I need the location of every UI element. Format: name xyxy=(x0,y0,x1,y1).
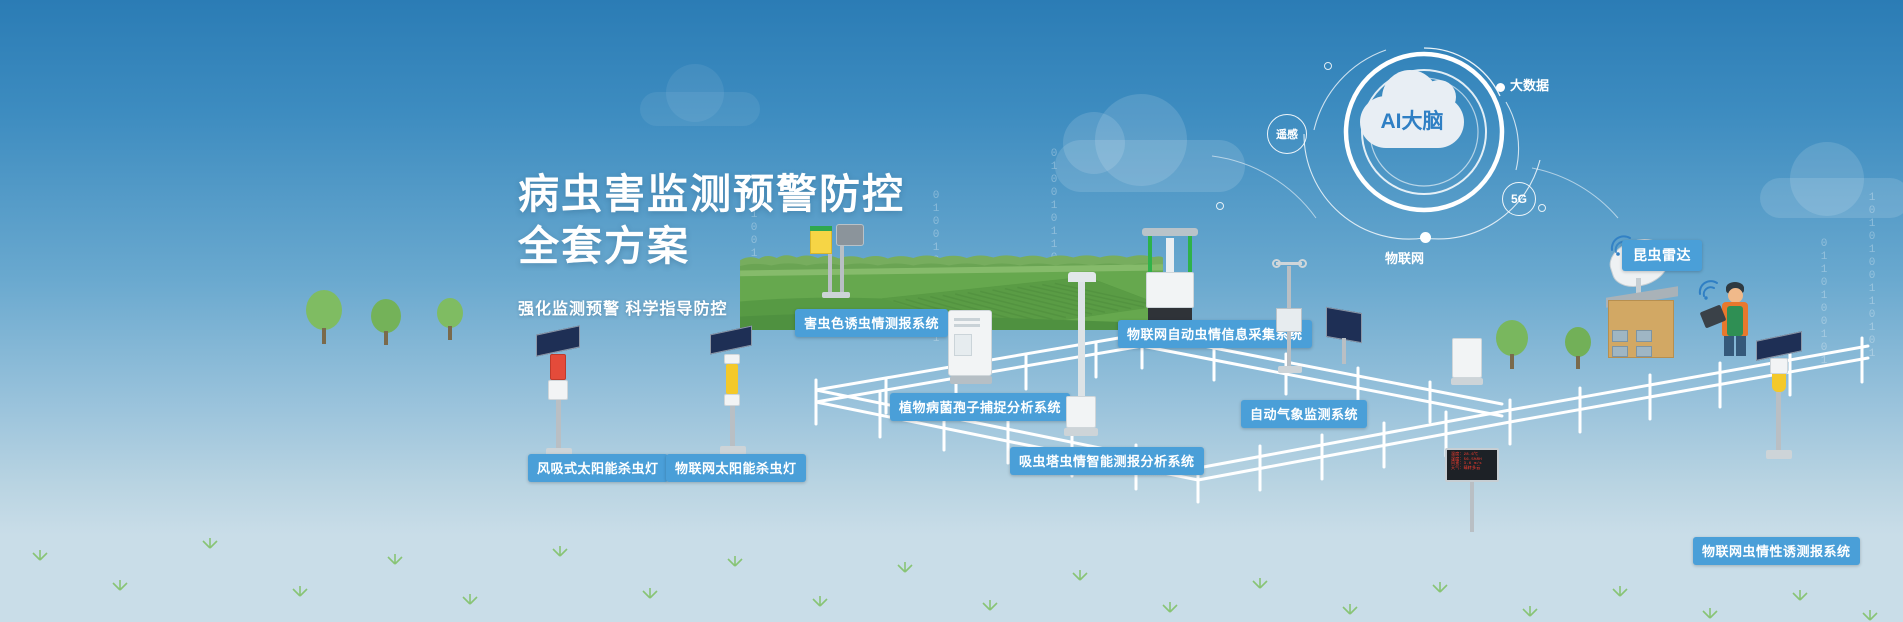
side-cabinet-body xyxy=(1452,338,1482,378)
farmer-leg xyxy=(1724,336,1734,356)
device-spore-capture[interactable] xyxy=(948,310,1008,392)
hub-node-label: 5G xyxy=(1511,192,1527,206)
device-pest-color-lure[interactable] xyxy=(806,224,886,298)
cloud-icon xyxy=(640,92,760,126)
lamp-fan xyxy=(548,380,568,400)
label-pheromone-lure[interactable]: 物联网虫情性诱测报系统 xyxy=(1693,537,1860,565)
lamp-pole xyxy=(730,406,735,450)
lamp-tube xyxy=(726,364,738,394)
orbit-endpoint-dot xyxy=(1216,202,1224,210)
anemometer-cup xyxy=(1298,259,1307,268)
lamp-pole xyxy=(556,400,561,452)
lure-base xyxy=(1766,450,1792,459)
label-iot-solar-lamp[interactable]: 物联网太阳能杀虫灯 xyxy=(666,454,806,482)
collector-roof xyxy=(1142,228,1198,236)
cabinet-vent xyxy=(954,324,980,327)
headline-line-1: 病虫害监测预警防控 xyxy=(518,171,905,217)
sensor-shield xyxy=(1276,308,1302,332)
lamp-collector xyxy=(724,394,740,406)
lamp-housing xyxy=(550,354,566,380)
side-cabinet-base xyxy=(1451,378,1483,385)
lure-funnel xyxy=(1772,374,1786,392)
collector-lamp xyxy=(1166,238,1174,272)
lure-housing xyxy=(1770,358,1788,374)
led-line: 天气：晴转多云 xyxy=(1451,467,1493,472)
label-spore-capture[interactable]: 植物病菌孢子捕捉分析系统 xyxy=(890,393,1070,421)
ai-brain-hub: AI大脑 遥感 5G 大数据 物联网 xyxy=(1274,42,1574,252)
led-weather-board[interactable]: 温度：28.6℃ 湿度：56.5%RH 风速：3.6 m/s 天气：晴转多云 xyxy=(1445,448,1499,482)
orbit-endpoint-dot xyxy=(1324,62,1332,70)
hub-node-big-data-label: 大数据 xyxy=(1510,75,1549,94)
station-solar-pole xyxy=(1342,338,1346,364)
device-iot-solar-lamp[interactable] xyxy=(706,330,766,456)
trap-header xyxy=(810,226,832,231)
sticky-trap-card xyxy=(810,228,832,254)
label-insect-radar[interactable]: 昆虫雷达 xyxy=(1622,240,1702,271)
device-base xyxy=(822,292,850,298)
orbit-endpoint-dot xyxy=(1538,204,1546,212)
farmer-head xyxy=(1728,288,1743,303)
cabinet-window xyxy=(954,334,972,356)
hero-banner: 010010101101 0100101101 01001011010 1010… xyxy=(0,0,1903,622)
collector-bin xyxy=(1148,308,1192,320)
tree-cluster xyxy=(290,286,630,356)
cabinet-base xyxy=(950,376,992,384)
cloud-icon xyxy=(1760,178,1903,218)
label-suction-tower[interactable]: 吸虫塔虫情智能测报分析系统 xyxy=(1010,447,1204,475)
device-weather-station[interactable] xyxy=(1258,262,1322,378)
label-pest-color-lure[interactable]: 害虫色诱虫情测报系统 xyxy=(795,309,948,337)
hub-node-remote-sensing[interactable]: 遥感 xyxy=(1267,114,1307,154)
tower-cabinet xyxy=(1066,396,1096,428)
farmer-figure xyxy=(1700,280,1764,358)
hub-node-dot xyxy=(1420,232,1431,243)
lure-pole xyxy=(1776,392,1781,452)
solar-panel-icon xyxy=(710,326,752,355)
collector-body xyxy=(1146,272,1194,308)
camera-unit xyxy=(836,224,864,246)
label-wind-suction-solar-lamp[interactable]: 风吸式太阳能杀虫灯 xyxy=(528,454,668,482)
tower-cap xyxy=(1068,272,1096,282)
label-weather-station[interactable]: 自动气象监测系统 xyxy=(1241,400,1367,428)
led-board-pole xyxy=(1470,482,1474,532)
tree-cluster xyxy=(1482,312,1642,382)
cloud-icon xyxy=(1055,140,1245,192)
farmer-leg xyxy=(1736,336,1746,356)
device-suction-tower[interactable] xyxy=(1062,272,1102,444)
hub-node-5g[interactable]: 5G xyxy=(1502,182,1536,216)
support-pole xyxy=(840,246,844,296)
station-base xyxy=(1278,366,1302,373)
wifi-icon xyxy=(1696,278,1724,300)
ai-brain-label: AI大脑 xyxy=(1360,100,1464,144)
support-pole xyxy=(828,254,832,296)
hub-node-label: 遥感 xyxy=(1276,126,1298,142)
cabinet-vent xyxy=(954,318,980,321)
tower-shaft xyxy=(1078,282,1085,396)
hub-node-dot xyxy=(1496,83,1505,92)
tower-base xyxy=(1064,428,1098,436)
lamp-top xyxy=(724,354,740,364)
anemometer-cup xyxy=(1272,259,1281,268)
device-iot-pest-collector[interactable] xyxy=(1142,228,1206,324)
farmer-apron xyxy=(1727,306,1743,336)
